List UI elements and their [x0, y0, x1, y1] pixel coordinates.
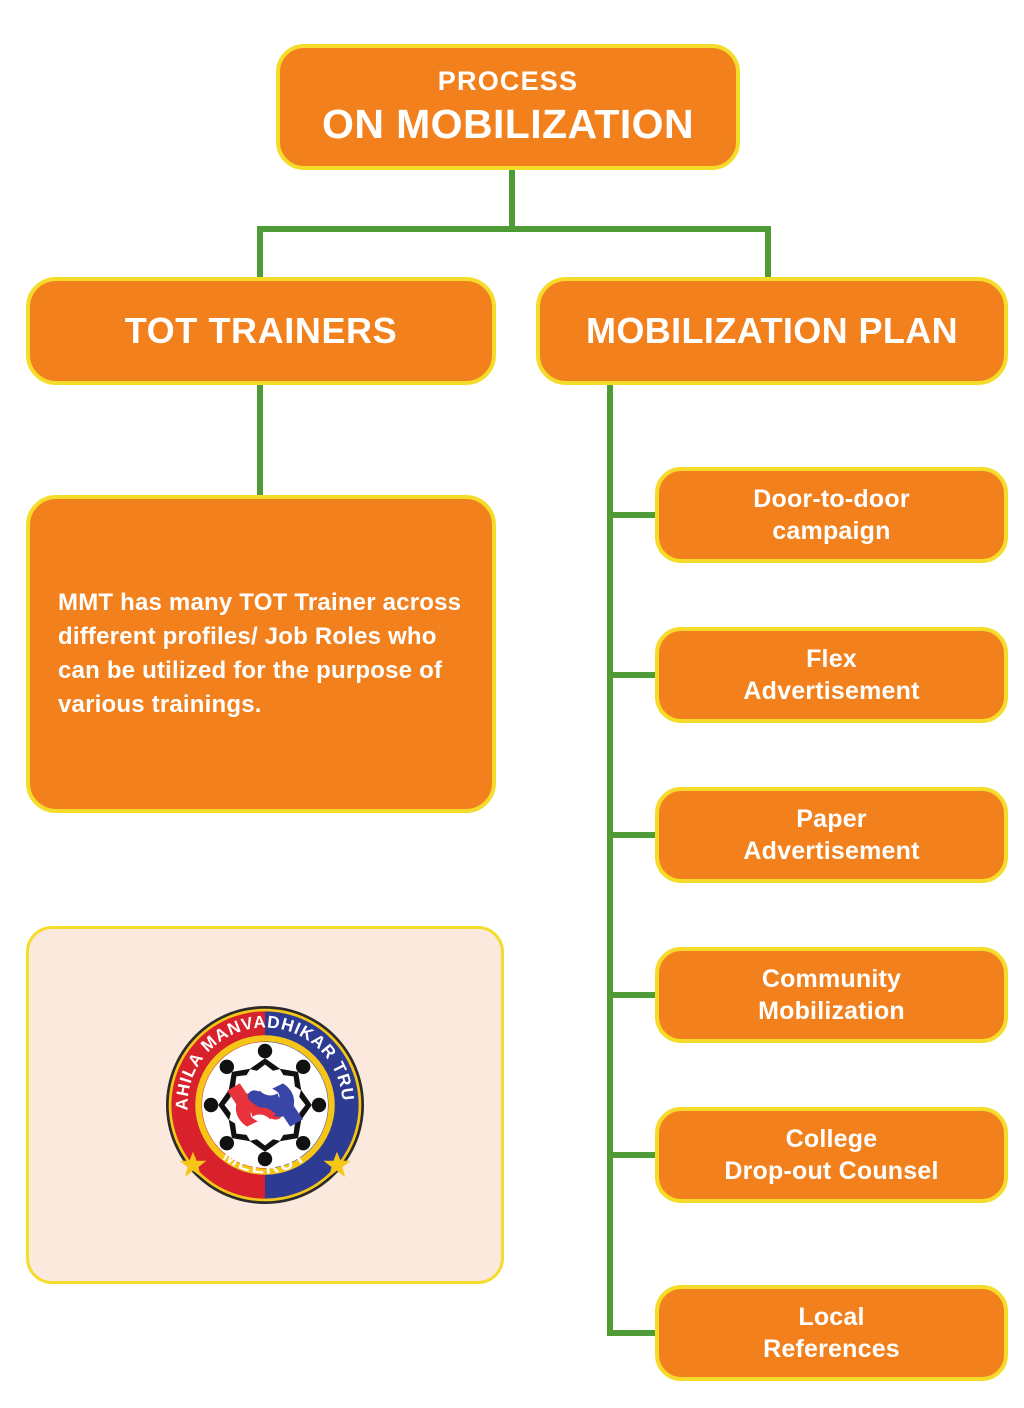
process-title-box: PROCESS ON MOBILIZATION — [276, 44, 740, 170]
flowchart-canvas: PROCESS ON MOBILIZATION TOT TRAINERS MOB… — [0, 0, 1024, 1408]
mobilization-item-line1: College — [724, 1123, 938, 1156]
mobilization-plan-label: MOBILIZATION PLAN — [586, 310, 958, 352]
connector-stub-6 — [607, 1330, 659, 1336]
mobilization-item-paper-advertisement: Paper Advertisement — [655, 787, 1008, 883]
tot-trainers-box: TOT TRAINERS — [26, 277, 496, 385]
tot-trainers-description-box: MMT has many TOT Trainer across differen… — [26, 495, 496, 813]
mobilization-item-line1: Door-to-door — [753, 483, 910, 516]
tot-trainers-description-text: MMT has many TOT Trainer across differen… — [58, 586, 466, 722]
mobilization-item-line2: Advertisement — [743, 835, 919, 868]
mobilization-item-line2: References — [763, 1333, 900, 1366]
connector-bus-to-plan — [765, 226, 771, 280]
connector-stub-3 — [607, 832, 659, 838]
mobilization-item-line1: Community — [758, 963, 905, 996]
connector-tot-to-description — [257, 385, 263, 497]
mobilization-item-door-to-door: Door-to-door campaign — [655, 467, 1008, 563]
mobilization-item-line1: Local — [763, 1301, 900, 1334]
mobilization-item-college-drop-out-counsel: College Drop-out Counsel — [655, 1107, 1008, 1203]
mobilization-item-line2: Advertisement — [743, 675, 919, 708]
connector-plan-spine — [607, 385, 613, 1336]
connector-bus-to-tot — [257, 226, 263, 280]
process-title-kicker: PROCESS — [438, 66, 578, 98]
connector-title-down — [509, 170, 515, 232]
process-title-main: ON MOBILIZATION — [322, 100, 694, 148]
mobilization-item-community-mobilization: Community Mobilization — [655, 947, 1008, 1043]
mobilization-item-line2: campaign — [753, 515, 910, 548]
organization-logo-panel: MAHILA MANVADHIKAR TRUST MEERUT — [26, 926, 504, 1284]
connector-stub-4 — [607, 992, 659, 998]
connector-stub-5 — [607, 1152, 659, 1158]
mobilization-item-line1: Paper — [743, 803, 919, 836]
connector-bus-horizontal — [257, 226, 771, 232]
mobilization-item-line2: Drop-out Counsel — [724, 1155, 938, 1188]
connector-stub-2 — [607, 672, 659, 678]
mobilization-item-flex-advertisement: Flex Advertisement — [655, 627, 1008, 723]
mobilization-item-line2: Mobilization — [758, 995, 905, 1028]
connector-stub-1 — [607, 512, 659, 518]
mobilization-item-local-references: Local References — [655, 1285, 1008, 1381]
mobilization-plan-box: MOBILIZATION PLAN — [536, 277, 1008, 385]
mobilization-item-line1: Flex — [743, 643, 919, 676]
tot-trainers-label: TOT TRAINERS — [125, 310, 398, 352]
mahila-manvadhikar-trust-logo: MAHILA MANVADHIKAR TRUST MEERUT — [157, 997, 373, 1213]
